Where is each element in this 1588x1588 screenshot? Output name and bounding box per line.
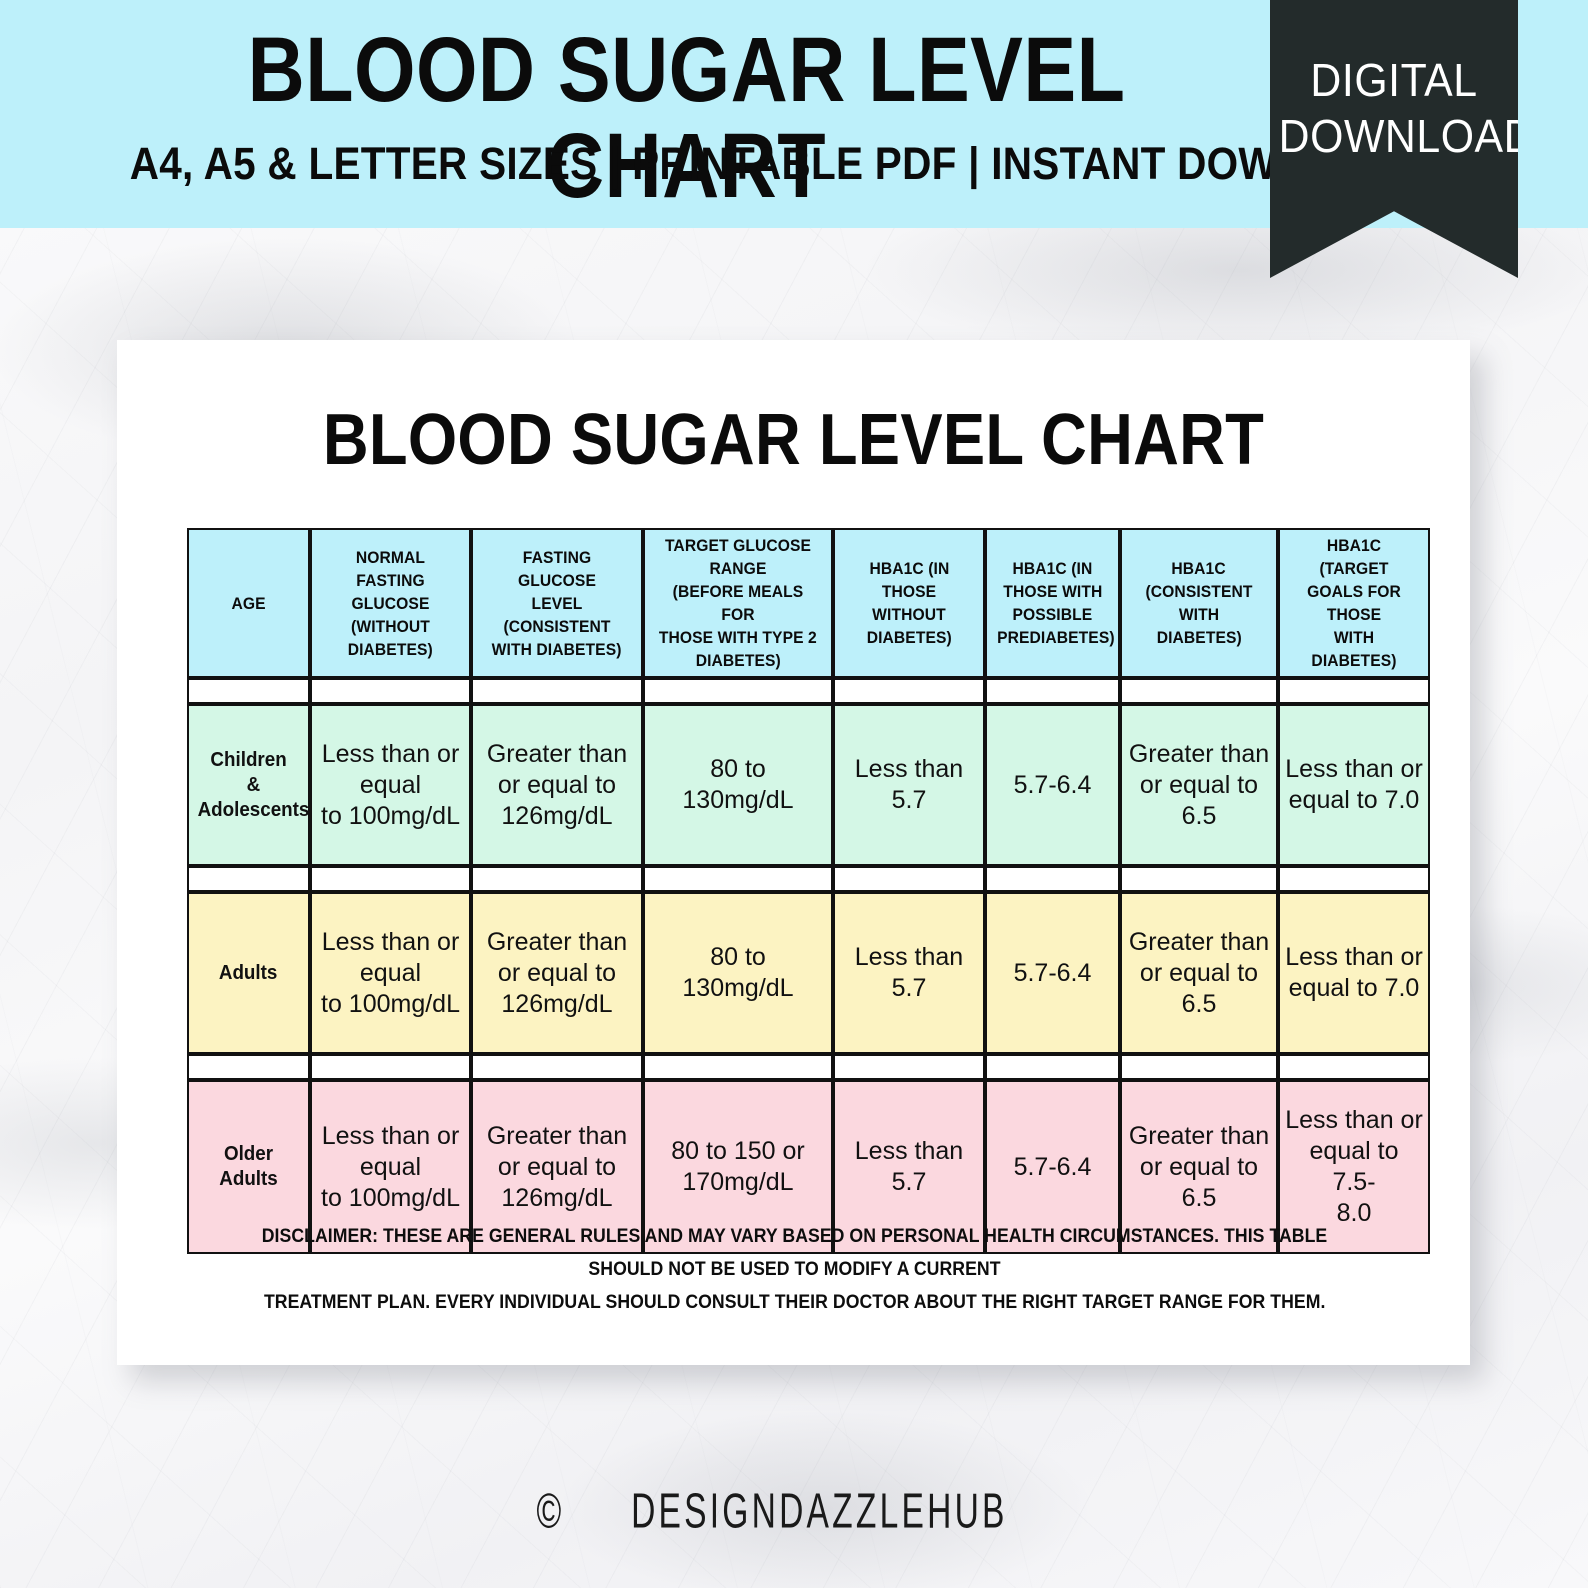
disclaimer-line-2: TREATMENT PLAN. EVERY INDIVIDUAL SHOULD …: [264, 1286, 1326, 1319]
blood-sugar-table: AGENORMAL FASTINGGLUCOSE (WITHOUTDIABETE…: [187, 528, 1430, 1254]
column-header-3: TARGET GLUCOSE RANGE(BEFORE MEALS FORTHO…: [643, 528, 833, 678]
data-cell-r1-c3: Less than 5.7: [833, 892, 985, 1054]
table-spacer-row: [187, 866, 1430, 892]
data-cell-r0-c2: 80 to130mg/dL: [643, 704, 833, 866]
spacer-cell: [1120, 678, 1278, 704]
spacer-cell: [985, 678, 1120, 704]
spacer-cell: [187, 866, 310, 892]
chart-title: BLOOD SUGAR LEVEL CHART: [198, 402, 1389, 478]
table-row: Children& AdolescentsLess than orequalto…: [187, 704, 1430, 866]
data-cell-r0-c0: Less than orequalto 100mg/dL: [310, 704, 471, 866]
table-row: AdultsLess than orequalto 100mg/dLGreate…: [187, 892, 1430, 1054]
spacer-cell: [1278, 866, 1430, 892]
spacer-cell: [310, 866, 471, 892]
column-header-6: HBA1C(CONSISTENT WITHDIABETES): [1120, 528, 1278, 678]
spacer-cell: [643, 1054, 833, 1080]
spacer-cell: [643, 678, 833, 704]
spacer-cell: [471, 866, 643, 892]
spacer-cell: [1120, 1054, 1278, 1080]
column-header-2: FASTING GLUCOSELEVEL (CONSISTENTWITH DIA…: [471, 528, 643, 678]
table-header-row: AGENORMAL FASTINGGLUCOSE (WITHOUTDIABETE…: [187, 528, 1430, 678]
spacer-cell: [471, 678, 643, 704]
printable-chart-card: BLOOD SUGAR LEVEL CHART AGENORMAL FASTIN…: [117, 340, 1470, 1365]
spacer-cell: [985, 1054, 1120, 1080]
spacer-cell: [187, 678, 310, 704]
spacer-cell: [310, 1054, 471, 1080]
table-body: AGENORMAL FASTINGGLUCOSE (WITHOUTDIABETE…: [187, 528, 1430, 1254]
data-cell-r0-c6: Less than orequal to 7.0: [1278, 704, 1430, 866]
data-cell-r0-c1: Greater thanor equal to126mg/dL: [471, 704, 643, 866]
spacer-cell: [833, 1054, 985, 1080]
copyright-icon: ©: [537, 1483, 565, 1540]
disclaimer-line-1: DISCLAIMER: THESE ARE GENERAL RULES AND …: [253, 1220, 1336, 1286]
disclaimer-text: DISCLAIMER: THESE ARE GENERAL RULES AND …: [212, 1220, 1377, 1319]
ribbon-line-2: DOWNLOAD: [1279, 108, 1510, 164]
blood-sugar-table-wrapper: AGENORMAL FASTINGGLUCOSE (WITHOUTDIABETE…: [187, 528, 1399, 1254]
column-header-5: HBA1C (INTHOSE WITHPOSSIBLEPREDIABETES): [985, 528, 1120, 678]
spacer-cell: [985, 866, 1120, 892]
data-cell-r0-c4: 5.7-6.4: [985, 704, 1120, 866]
data-cell-r1-c6: Less than orequal to 7.0: [1278, 892, 1430, 1054]
spacer-cell: [1278, 678, 1430, 704]
data-cell-r1-c0: Less than orequalto 100mg/dL: [310, 892, 471, 1054]
spacer-cell: [471, 1054, 643, 1080]
column-header-4: HBA1C (INTHOSE WITHOUTDIABETES): [833, 528, 985, 678]
ribbon-line-1: DIGITAL: [1279, 52, 1510, 108]
data-cell-r1-c2: 80 to130mg/dL: [643, 892, 833, 1054]
spacer-cell: [1278, 1054, 1430, 1080]
spacer-cell: [643, 866, 833, 892]
spacer-cell: [833, 678, 985, 704]
spacer-cell: [833, 866, 985, 892]
data-cell-r0-c3: Less than 5.7: [833, 704, 985, 866]
brand-name: DESIGNDAZZLEHUB: [631, 1483, 1008, 1540]
age-group-label: Children& Adolescents: [187, 704, 310, 866]
column-header-7: HBA1C (TARGETGOALS FOR THOSEWITH DIABETE…: [1278, 528, 1430, 678]
spacer-cell: [310, 678, 471, 704]
spacer-cell: [187, 1054, 310, 1080]
ribbon-text: DIGITAL DOWNLOAD: [1279, 52, 1510, 164]
data-cell-r1-c4: 5.7-6.4: [985, 892, 1120, 1054]
table-spacer-row: [187, 678, 1430, 704]
age-group-label: Adults: [187, 892, 310, 1054]
column-header-0: AGE: [187, 528, 310, 678]
table-spacer-row: [187, 1054, 1430, 1080]
data-cell-r0-c5: Greater thanor equal to 6.5: [1120, 704, 1278, 866]
watermark-footer: © DESIGNDAZZLEHUB: [0, 1487, 1588, 1535]
spacer-cell: [1120, 866, 1278, 892]
column-header-1: NORMAL FASTINGGLUCOSE (WITHOUTDIABETES): [310, 528, 471, 678]
data-cell-r1-c5: Greater thanor equal to 6.5: [1120, 892, 1278, 1054]
data-cell-r1-c1: Greater thanor equal to126mg/dL: [471, 892, 643, 1054]
